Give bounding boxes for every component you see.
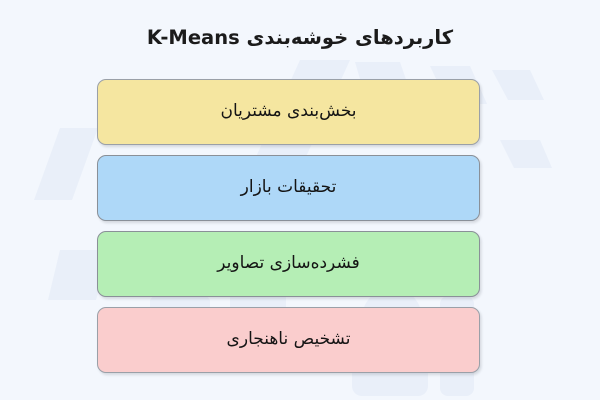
application-list: بخش‌بندی مشتریان تحقیقات بازار فشرده‌ساز… [97, 79, 480, 373]
list-item-label: فشرده‌سازی تصاویر [217, 253, 359, 274]
list-item-market-research[interactable]: تحقیقات بازار [97, 155, 480, 221]
list-item-image-compression[interactable]: فشرده‌سازی تصاویر [97, 231, 480, 297]
list-item-label: تحقیقات بازار [241, 177, 337, 198]
list-item-anomaly-detection[interactable]: تشخیص ناهنجاری [97, 307, 480, 373]
list-item-label: تشخیص ناهنجاری [227, 329, 351, 350]
diagram-canvas: کاربردهای خوشه‌بندی K-Means بخش‌بندی مشت… [0, 0, 600, 400]
list-item-customer-segmentation[interactable]: بخش‌بندی مشتریان [97, 79, 480, 145]
page-title: کاربردهای خوشه‌بندی K-Means [0, 26, 600, 49]
list-item-label: بخش‌بندی مشتریان [220, 101, 356, 122]
